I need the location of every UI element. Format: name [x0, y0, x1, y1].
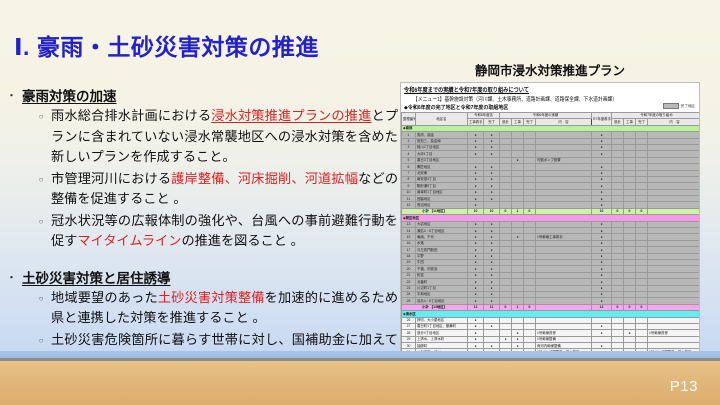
- sub-bullet-icon: ○: [36, 169, 46, 190]
- document-caption: 静岡市浸水対策推進プラン: [400, 60, 700, 79]
- sub-bullet-icon: ○: [36, 106, 46, 127]
- page-title: Ⅰ. 豪雨・土砂災害対策の推進: [14, 28, 319, 62]
- footer-band: [0, 361, 720, 405]
- legend-label: 完了地区: [681, 104, 695, 109]
- document-heading-2: 【メニュー1】基幹施設対策（河川課、土木事務所、道路計画課、道路保全課、下水道計…: [413, 95, 699, 103]
- page-number: P13: [670, 378, 698, 395]
- list-item-text: 地域要望のあった土砂災害対策整備を加速的に進めるため県と連携した対策を推進するこ…: [51, 288, 398, 329]
- sub-bullet-icon: ○: [36, 211, 46, 232]
- section-heading-1: ・ 豪雨対策の加速: [6, 88, 398, 105]
- bullet-marker: ・: [6, 88, 16, 105]
- footer-accent-band: [0, 351, 720, 358]
- list-item-text: 冠水状況等の広報体制の強化や、台風への事前避難行動を促すマイタイムラインの推進を…: [51, 211, 398, 252]
- document-heading-3: ◆令和6年度の完了地区と令和7年度の取組地区: [404, 104, 699, 111]
- bullet-marker: ・: [6, 270, 16, 287]
- sub-bullet-icon: ○: [36, 330, 46, 351]
- section-heading-text: 豪雨対策の加速: [22, 88, 117, 105]
- document-image: 令和6年度までの実績と令和7年度の取り組みについて 【メニュー1】基幹施設対策（…: [400, 82, 700, 352]
- plan-table-body: 整理番号地区名令和6年度迄令和6年度の実績R7年度着手予定令和7年度の取り組み工…: [402, 113, 701, 353]
- content-body: ・ 豪雨対策の加速 ○ 雨水総合排水計画における浸水対策推進プランの推進とプラン…: [6, 86, 398, 371]
- list-item: ○ 雨水総合排水計画における浸水対策推進プランの推進とプランに含まれていない浸水…: [36, 106, 398, 168]
- section-spacer: [6, 252, 398, 268]
- document-heading-1: 令和6年度までの実績と令和7年度の取り組みについて: [404, 86, 699, 94]
- slide-root: Ⅰ. 豪雨・土砂災害対策の推進 ・ 豪雨対策の加速 ○ 雨水総合排水計画における…: [0, 0, 720, 405]
- legend-swatch-icon: [663, 103, 679, 109]
- sub-bullet-icon: ○: [36, 288, 46, 309]
- list-item-text: 市管理河川における護岸整備、河床掘削、河道拡幅などの整備を促進すること 。: [51, 169, 398, 210]
- list-item-text: 雨水総合排水計画における浸水対策推進プランの推進とプランに含まれていない浸水常襲…: [51, 106, 398, 168]
- plan-table: 整理番号地区名令和6年度迄令和6年度の実績R7年度着手予定令和7年度の取り組み工…: [401, 112, 700, 352]
- section-heading-text: 土砂災害対策と居住誘導: [22, 270, 171, 287]
- list-item: ○ 地域要望のあった土砂災害対策整備を加速的に進めるため県と連携した対策を推進す…: [36, 288, 398, 329]
- section-heading-2: ・ 土砂災害対策と居住誘導: [6, 270, 398, 287]
- document-legend: 完了地区: [663, 103, 695, 109]
- list-item: ○ 市管理河川における護岸整備、河床掘削、河道拡幅などの整備を促進すること 。: [36, 169, 398, 210]
- list-item: ○ 冠水状況等の広報体制の強化や、台風への事前避難行動を促すマイタイムラインの推…: [36, 211, 398, 252]
